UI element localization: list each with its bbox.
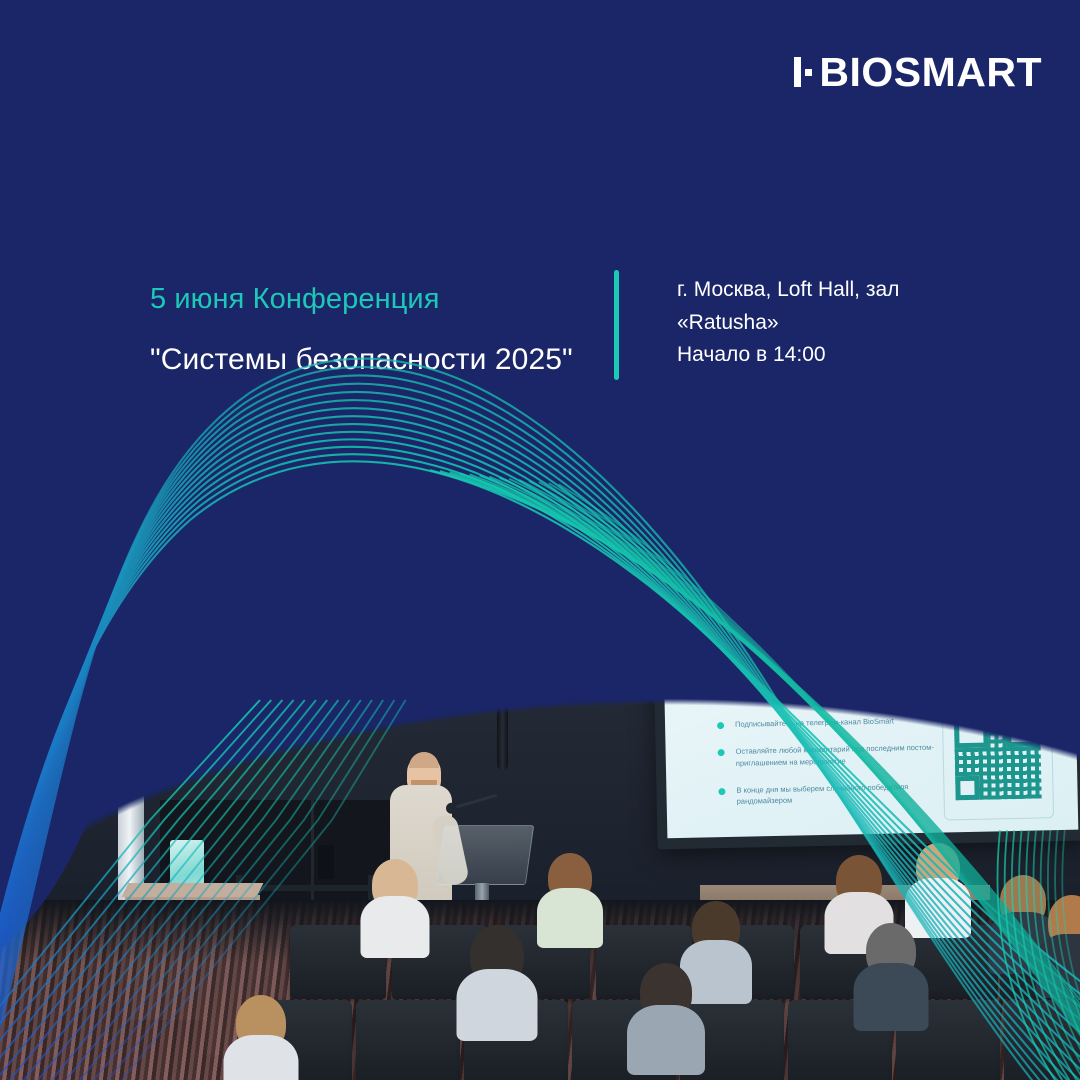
event-date-kicker: 5 июня Конференция [150,278,620,320]
exit-sign-mount [335,658,340,667]
venue-accent-bar [614,270,619,380]
audience-member [640,963,692,1021]
ceiling-fixture-icon [1055,515,1062,524]
biosmart-logo-mark [794,57,812,87]
audience-member [836,855,882,907]
audience-chair [356,1000,460,1080]
exit-sign: ВЫХОД [300,667,374,703]
wall-vent-icon [152,512,264,614]
audience-member [1000,875,1046,927]
slide-logo-text: BIOSMART [1007,616,1052,626]
audience-torso [224,1035,299,1080]
audience-torso [905,878,971,937]
slide-logo-bar-icon [999,618,1001,626]
wall-speaker-icon [318,845,334,879]
audience-member [470,925,524,985]
logo-wordmark: BIOSMART [819,52,1042,93]
ceiling-fixture-icon [745,507,752,516]
slide-bullet-list: Подписывайтесь на телеграм-канал BioSmar… [717,714,954,823]
microphone-pole [497,655,508,770]
door-column [118,515,144,945]
ceiling-fixture-icon [455,501,462,510]
audience-member [692,901,740,955]
logo-bar-icon [794,57,801,87]
audience-torso [361,896,430,958]
slide-title: Розыгрыш памятных подарков [710,656,1055,680]
slide-logo: BIOSMART [999,616,1052,626]
glass-lectern [436,825,534,885]
slide-logo-dot-icon [1003,621,1005,623]
photo-inner: BIOSMART Розыгрыш памятных подарков Подп… [0,455,1080,1080]
venue-start-time: Начало в 14:00 [677,339,957,372]
projector-screen-frame: BIOSMART Розыгрыш памятных подарков Подп… [652,591,1080,850]
slide-bullet: Подписывайтесь на телеграм-канал BioSmar… [717,714,952,730]
audience-torso [1036,934,1080,999]
audience-torso [457,969,538,1042]
audience-member [916,843,960,892]
event-title: "Системы безопасности 2025" [150,338,620,382]
venue-text: г. Москва, Loft Hall, зал «Ratusha» Нача… [677,270,957,380]
venue-block: г. Москва, Loft Hall, зал «Ratusha» Нача… [614,270,957,380]
qr-code-icon [954,712,1042,800]
poster-canvas: BIOSMART 5 июня Конференция "Системы без… [0,0,1080,1080]
audience-member [236,995,286,1051]
venue-address: г. Москва, Loft Hall, зал [677,274,957,307]
slide-bullet: В конце дня мы выберем случайного победи… [718,780,953,807]
headline-block: 5 июня Конференция "Системы безопасности… [150,278,620,382]
audience-member [866,923,916,979]
audience-torso [537,888,603,947]
audience-member [372,859,418,911]
logo-dot-icon [805,69,812,76]
slide-bullet: Оставляйте любой комментарий под последн… [718,742,953,769]
biosmart-logo: BIOSMART [794,50,1042,94]
exit-sign-label: ВЫХОД [303,682,370,700]
audience-torso [627,1005,705,1075]
venue-room: «Ratusha» [677,307,957,340]
conference-photo: BIOSMART Розыгрыш памятных подарков Подп… [0,455,1080,1080]
projector-screen: BIOSMART Розыгрыш памятных подарков Подп… [663,600,1079,839]
audience-torso [854,963,929,1030]
audience-chair [1004,1000,1080,1080]
audience-member [548,853,592,902]
